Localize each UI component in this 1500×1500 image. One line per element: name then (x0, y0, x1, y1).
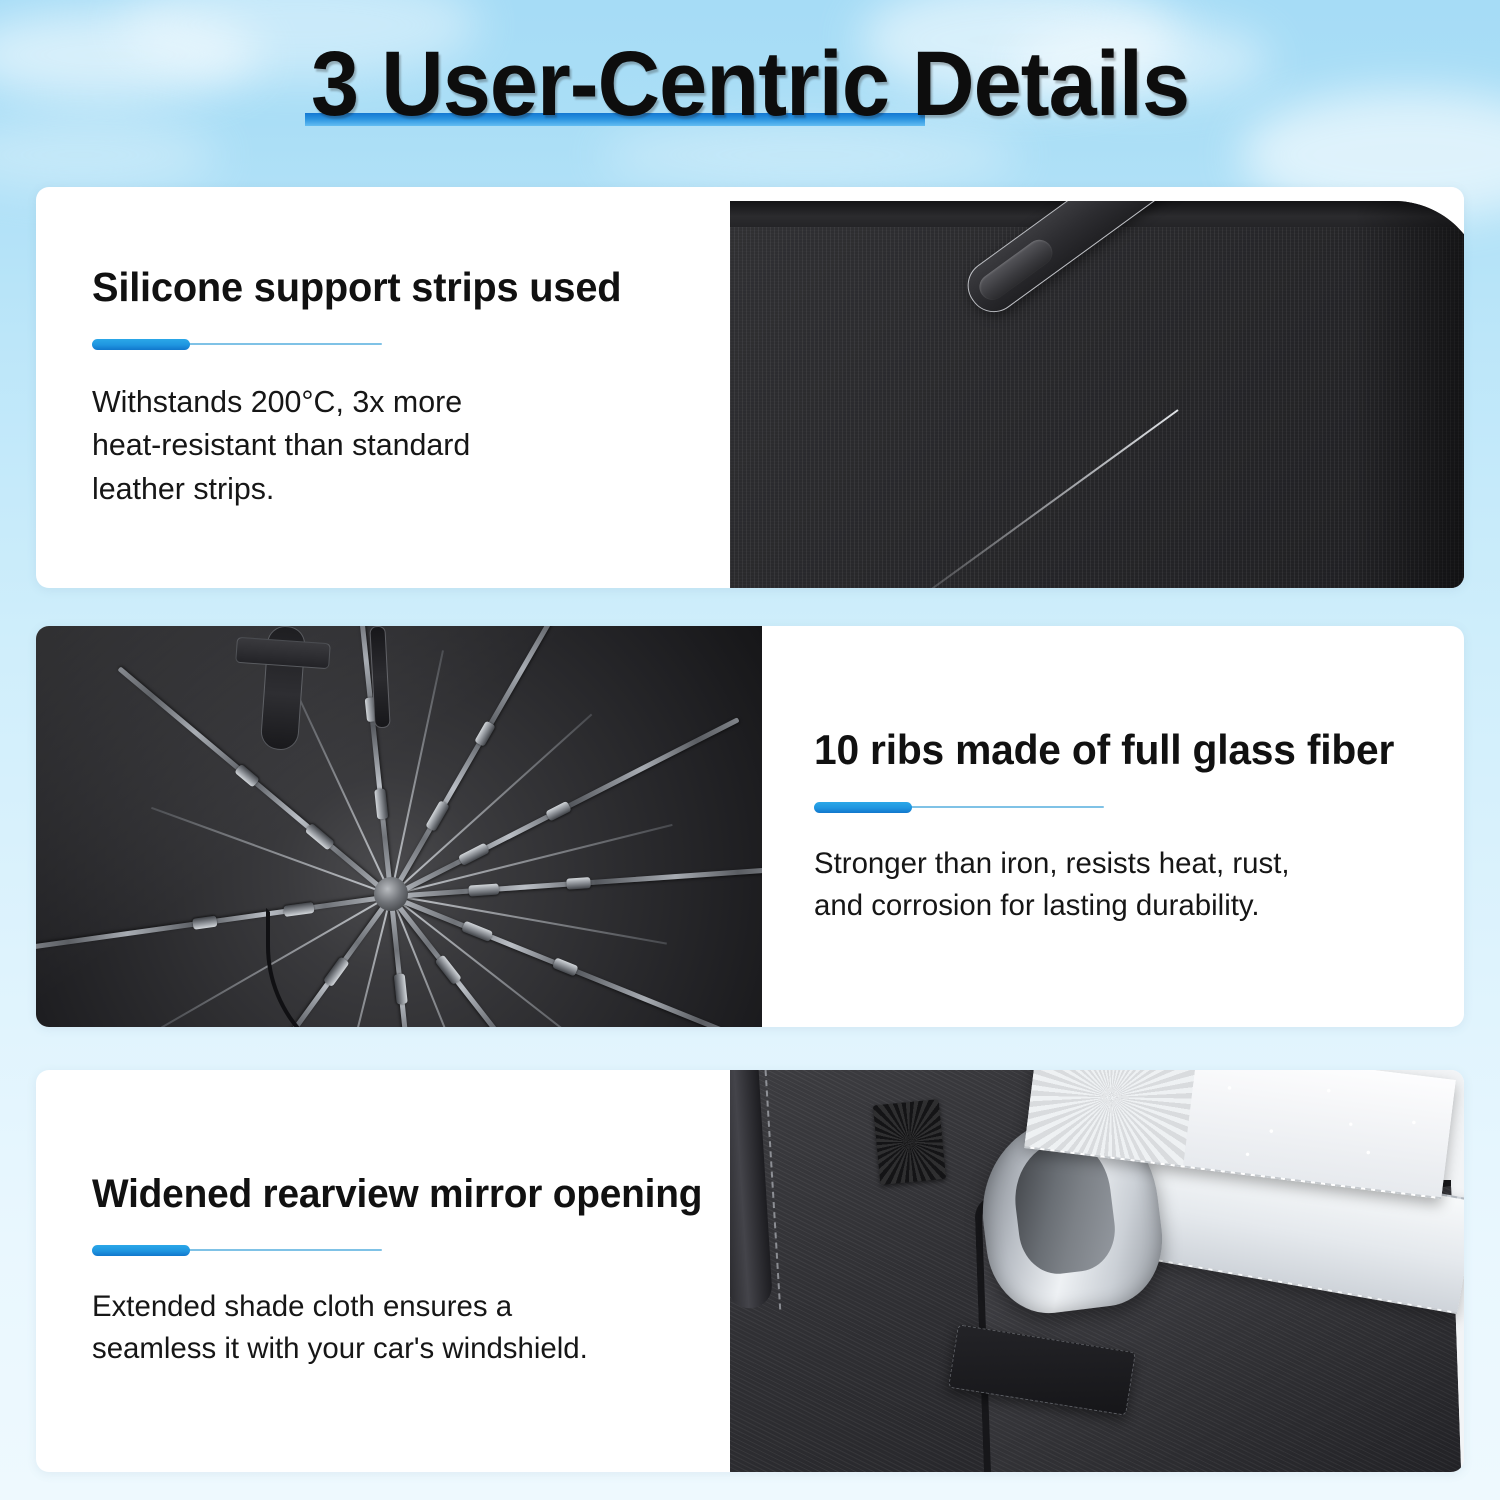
card-title: Widened rearview mirror opening (92, 1172, 672, 1217)
sunshade-panel (730, 201, 1464, 588)
feature-card-mirror-opening: Widened rearview mirror opening Extended… (36, 1070, 1464, 1472)
velcro-patch (873, 1099, 946, 1185)
card-title: 10 ribs made of full glass fiber (814, 726, 1406, 773)
card-text-pane: Silicone support strips used Withstands … (36, 187, 730, 588)
card-title: Silicone support strips used (92, 265, 672, 311)
feature-card-glass-fiber-ribs: 10 ribs made of full glass fiber Stronge… (36, 626, 1464, 1027)
page-title: 3 User-Centric Details (311, 38, 1189, 130)
umbrella-ribs-photo (36, 626, 762, 1027)
rearview-mirror-opening-photo (730, 1070, 1464, 1472)
card-body: Extended shade cloth ensures a seamless … (92, 1286, 678, 1370)
card-body: Stronger than iron, resists heat, rust, … (814, 843, 1412, 927)
divider-accent-bar (92, 339, 190, 350)
umbrella-hub (374, 877, 408, 911)
cloud-icon (0, 120, 220, 190)
panel-edge-shadow (1354, 201, 1464, 588)
infographic-page: 3 User-Centric Details Silicone support … (0, 0, 1500, 1500)
silicone-support-strip-photo (730, 187, 1464, 588)
umbrella-cord (266, 908, 454, 1027)
card-divider (92, 339, 380, 350)
card-divider (92, 1245, 380, 1256)
card-text-pane: Widened rearview mirror opening Extended… (36, 1070, 730, 1472)
card-text-pane: 10 ribs made of full glass fiber Stronge… (762, 626, 1464, 1027)
card-divider (814, 802, 1102, 813)
strap-texture (1024, 1070, 1197, 1165)
card-body: Withstands 200°C, 3x more heat-resistant… (92, 380, 678, 510)
divider-accent-bar (814, 802, 912, 813)
feature-card-silicone-strips: Silicone support strips used Withstands … (36, 187, 1464, 588)
page-title-wrap: 3 User-Centric Details (0, 38, 1500, 130)
divider-accent-bar (92, 1245, 190, 1256)
